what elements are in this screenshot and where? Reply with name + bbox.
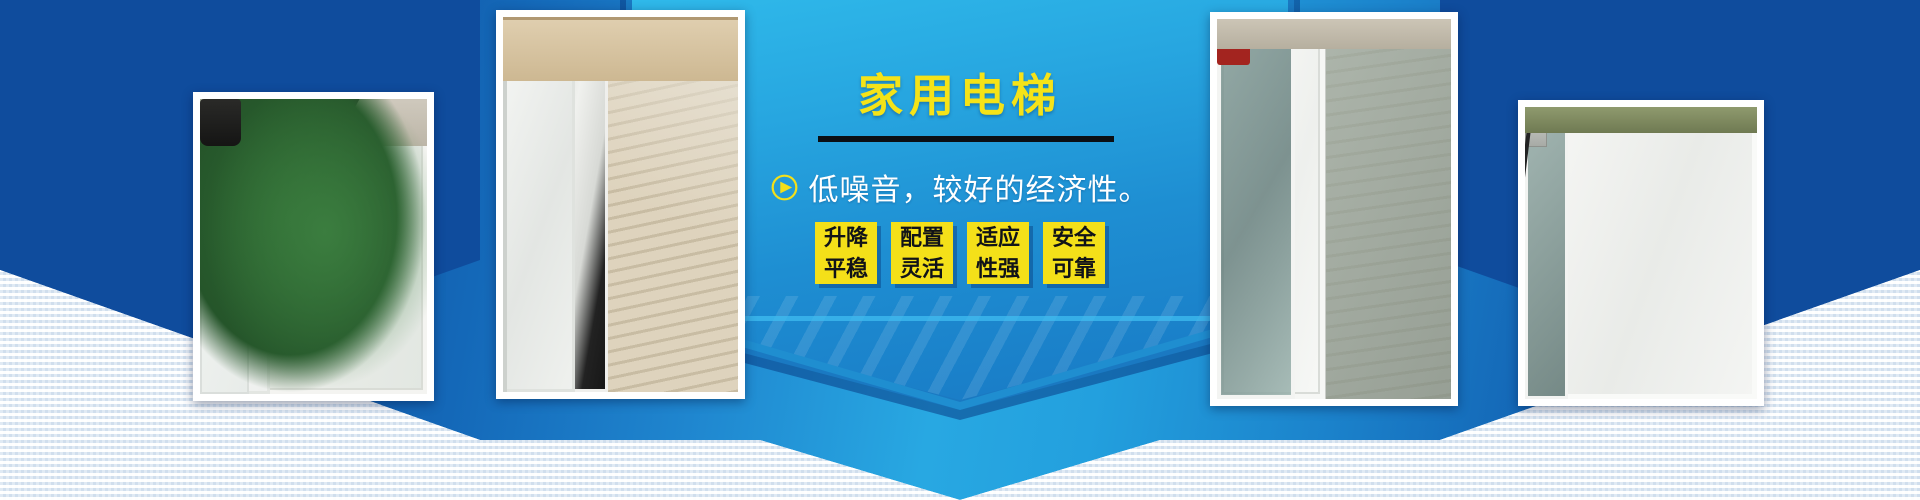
feature-tag-4[interactable]: 安全 可靠 xyxy=(1043,222,1105,284)
page-title: 家用电梯 xyxy=(0,73,1920,118)
title-divider xyxy=(818,136,1114,142)
p2-floor-seam-2 xyxy=(503,17,738,20)
feature-tag-2[interactable]: 配置 灵活 xyxy=(891,222,953,284)
photo-white-frame-elevator xyxy=(1210,12,1458,406)
feature-tag-1-line1: 升降 xyxy=(815,222,877,253)
feature-tag-4-line2: 可靠 xyxy=(1043,253,1105,284)
feature-tag-1-line2: 平稳 xyxy=(815,253,877,284)
play-circle-icon xyxy=(771,174,798,201)
subtitle-text: 低噪音，较好的经济性。 xyxy=(809,165,1150,209)
home-elevator-banner: 家用电梯 低噪音，较好的经济性。 升降 平稳 配置 灵活 适应 性强 安全 可靠 xyxy=(0,0,1920,500)
feature-tag-3-line1: 适应 xyxy=(967,222,1029,253)
feature-tag-list: 升降 平稳 配置 灵活 适应 性强 安全 可靠 xyxy=(0,222,1920,284)
feature-tag-4-line1: 安全 xyxy=(1043,222,1105,253)
feature-tag-1[interactable]: 升降 平稳 xyxy=(815,222,877,284)
feature-tag-3[interactable]: 适应 性强 xyxy=(967,222,1029,284)
subtitle-row: 低噪音，较好的经济性。 xyxy=(0,165,1920,209)
feature-tag-2-line2: 灵活 xyxy=(891,253,953,284)
feature-tag-3-line2: 性强 xyxy=(967,253,1029,284)
feature-tag-2-line1: 配置 xyxy=(891,222,953,253)
p3-floor xyxy=(1217,19,1451,49)
p2-wood-floor xyxy=(503,17,738,81)
